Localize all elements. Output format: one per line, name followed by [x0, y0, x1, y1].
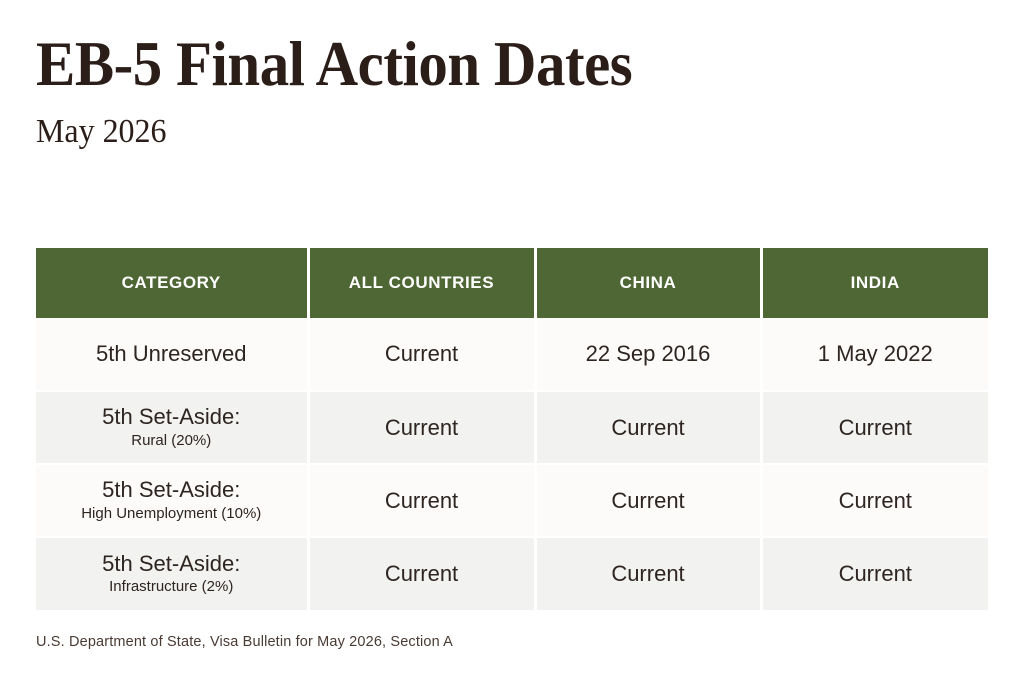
column-header-category: CATEGORY	[36, 248, 308, 318]
cell-all-countries: Current	[308, 391, 535, 464]
cell-india: Current	[761, 537, 988, 610]
category-sub-label: Rural (20%)	[44, 431, 299, 451]
table-row: 5th Set-Aside: Infrastructure (2%) Curre…	[36, 537, 988, 610]
column-header-china: CHINA	[535, 248, 761, 318]
column-header-india: INDIA	[761, 248, 988, 318]
category-main-label: 5th Unreserved	[44, 341, 299, 367]
table-body: 5th Unreserved Current 22 Sep 2016 1 May…	[36, 318, 988, 610]
cell-india: 1 May 2022	[761, 318, 988, 391]
category-main-label: 5th Set-Aside:	[44, 477, 299, 503]
cell-category: 5th Set-Aside: Infrastructure (2%)	[36, 537, 308, 610]
table-header: CATEGORY ALL COUNTRIES CHINA INDIA	[36, 248, 988, 318]
cell-category: 5th Set-Aside: High Unemployment (10%)	[36, 464, 308, 537]
cell-all-countries: Current	[308, 464, 535, 537]
source-footnote: U.S. Department of State, Visa Bulletin …	[36, 634, 453, 650]
cell-india: Current	[761, 464, 988, 537]
category-main-label: 5th Set-Aside:	[44, 551, 299, 577]
table-row: 5th Unreserved Current 22 Sep 2016 1 May…	[36, 318, 988, 391]
category-sub-label: Infrastructure (2%)	[44, 577, 299, 597]
cell-china: 22 Sep 2016	[535, 318, 761, 391]
header-block: EB-5 Final Action Dates May 2026	[36, 30, 988, 151]
cell-china: Current	[535, 391, 761, 464]
final-action-dates-table: CATEGORY ALL COUNTRIES CHINA INDIA 5th U…	[36, 248, 988, 610]
cell-category: 5th Set-Aside: Rural (20%)	[36, 391, 308, 464]
table-header-row: CATEGORY ALL COUNTRIES CHINA INDIA	[36, 248, 988, 318]
visa-bulletin-page: EB-5 Final Action Dates May 2026 CATEGOR…	[0, 0, 1024, 691]
cell-category: 5th Unreserved	[36, 318, 308, 391]
table-row: 5th Set-Aside: High Unemployment (10%) C…	[36, 464, 988, 537]
page-subtitle: May 2026	[36, 97, 931, 150]
cell-china: Current	[535, 464, 761, 537]
category-main-label: 5th Set-Aside:	[44, 404, 299, 430]
cell-india: Current	[761, 391, 988, 464]
final-action-dates-table-wrapper: CATEGORY ALL COUNTRIES CHINA INDIA 5th U…	[36, 248, 988, 610]
cell-china: Current	[535, 537, 761, 610]
cell-all-countries: Current	[308, 318, 535, 391]
cell-all-countries: Current	[308, 537, 535, 610]
table-row: 5th Set-Aside: Rural (20%) Current Curre…	[36, 391, 988, 464]
category-sub-label: High Unemployment (10%)	[44, 504, 299, 524]
page-title: EB-5 Final Action Dates	[36, 30, 912, 97]
column-header-all-countries: ALL COUNTRIES	[308, 248, 535, 318]
